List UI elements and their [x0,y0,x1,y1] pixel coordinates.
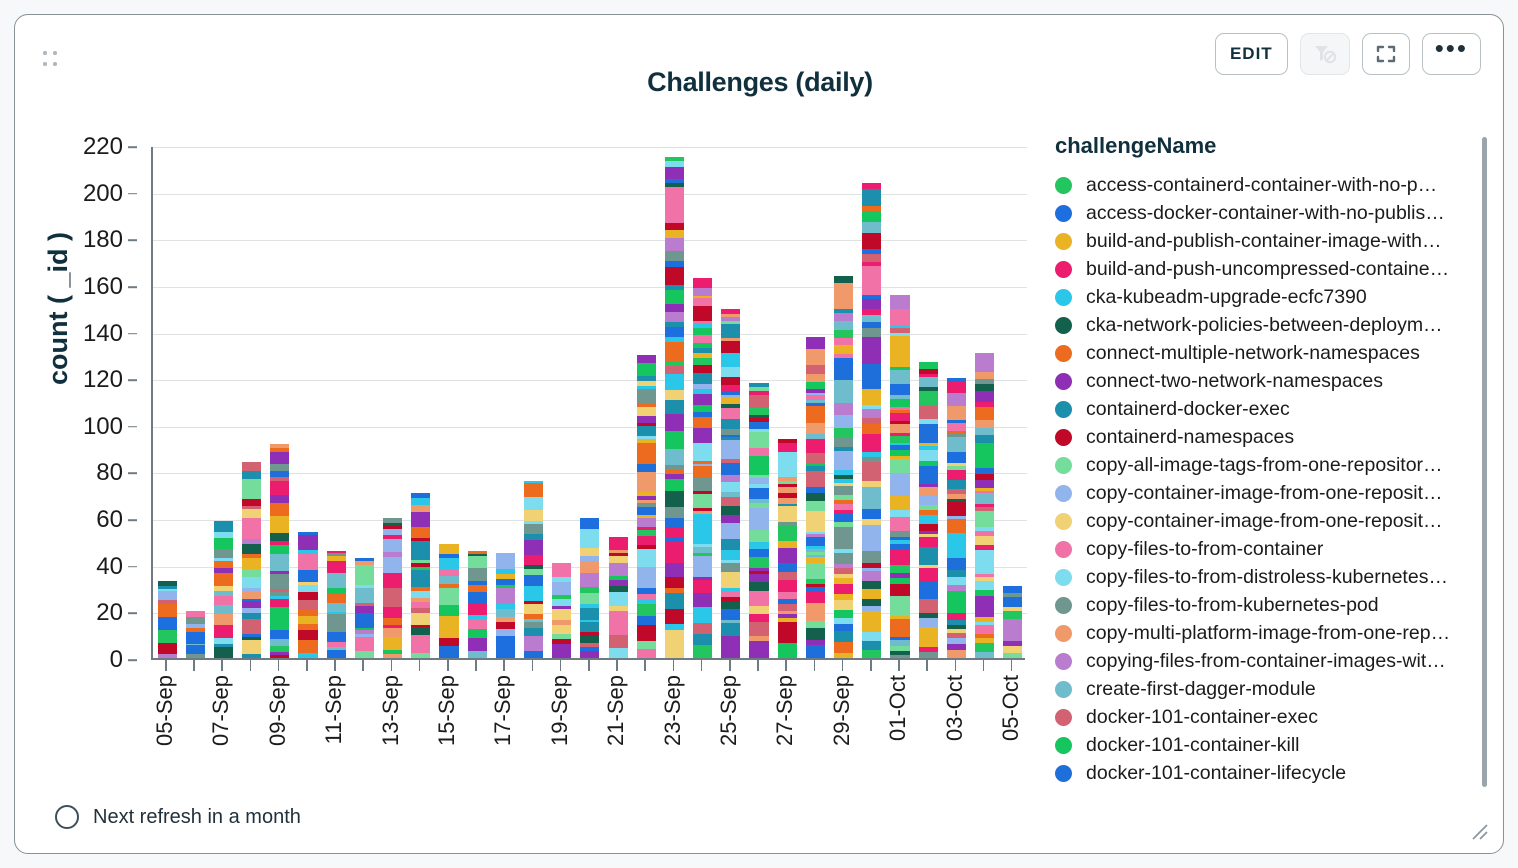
bar-segment[interactable] [496,622,515,629]
bar-segment[interactable] [721,353,740,367]
bar-segment[interactable] [721,463,740,476]
bar-segment[interactable] [496,553,515,568]
bar-segment[interactable] [721,515,740,523]
bar-segment[interactable] [919,362,938,369]
bar-segment[interactable] [975,443,994,468]
bar-segment[interactable] [693,358,712,366]
bar-segment[interactable] [355,606,374,613]
bar-segment[interactable] [524,500,543,510]
bar-segment[interactable] [468,592,487,604]
bar-segment[interactable] [749,622,768,636]
bar-segment[interactable] [609,537,628,550]
bar-segment[interactable] [637,649,656,658]
legend-item[interactable]: copy-all-image-tags-from-one-repositor… [1037,451,1489,479]
bar-segment[interactable] [919,391,938,406]
bar-segment[interactable] [496,647,515,658]
fullscreen-icon[interactable] [1362,33,1410,75]
bar[interactable] [298,532,317,658]
bar-segment[interactable] [270,655,289,658]
bar-segment[interactable] [496,588,515,604]
bar-segment[interactable] [975,596,994,617]
bar-segment[interactable] [834,486,853,494]
bar-segment[interactable] [383,559,402,573]
bar-segment[interactable] [355,651,374,658]
bar-segment[interactable] [637,518,656,527]
bar-segment[interactable] [665,414,684,431]
bar-segment[interactable] [609,641,628,648]
bar-segment[interactable] [834,553,853,564]
bar-segment[interactable] [947,558,966,570]
bar-segment[interactable] [890,309,909,325]
bar-segment[interactable] [975,493,994,503]
bar-segment[interactable] [806,511,825,532]
bar-segment[interactable] [439,544,458,554]
bar-segment[interactable] [158,630,177,643]
bar-segment[interactable] [862,462,881,481]
bar-segment[interactable] [298,570,317,582]
bar-segment[interactable] [524,628,543,636]
bar-segment[interactable] [806,563,825,579]
bar-segment[interactable] [693,428,712,443]
legend-item[interactable]: copy-multi-platform-image-from-one-rep… [1037,619,1489,647]
bar-segment[interactable] [524,483,543,497]
bar-segment[interactable] [890,596,909,616]
bar-segment[interactable] [693,365,712,373]
bar-segment[interactable] [242,619,261,634]
bar-segment[interactable] [214,625,233,638]
bar-segment[interactable] [270,619,289,630]
bar-segment[interactable] [862,424,881,434]
bar-segment[interactable] [242,640,261,655]
bar-segment[interactable] [468,629,487,638]
bar-segment[interactable] [975,384,994,391]
bar-segment[interactable] [778,506,797,522]
bar-segment[interactable] [947,591,966,613]
bar-segment[interactable] [327,650,346,658]
bar-segment[interactable] [609,611,628,631]
bar-segment[interactable] [524,540,543,555]
bar-segment[interactable] [749,432,768,448]
bar-segment[interactable] [693,306,712,321]
legend-item[interactable]: copy-files-to-from-distroless-kubernetes… [1037,563,1489,591]
bar-segment[interactable] [975,474,994,481]
bar-segment[interactable] [862,211,881,221]
bar-segment[interactable] [270,574,289,589]
bar-segment[interactable] [890,550,909,565]
bar-segment[interactable] [693,593,712,607]
bar-segment[interactable] [665,390,684,400]
bar-segment[interactable] [749,641,768,651]
bar-segment[interactable] [806,382,825,390]
bar-segment[interactable] [665,507,684,518]
bar-segment[interactable] [947,480,966,488]
bar-segment[interactable] [806,406,825,423]
bar-segment[interactable] [214,614,233,625]
bar-segment[interactable] [665,541,684,564]
legend-item[interactable]: copying-files-from-container-images-wit… [1037,647,1489,675]
bar-segment[interactable] [749,651,768,658]
bar-segment[interactable] [298,535,317,544]
bar-segment[interactable] [637,407,656,416]
bar-segment[interactable] [721,523,740,539]
bar-segment[interactable] [665,223,684,230]
bar-segment[interactable] [693,556,712,577]
bar-segment[interactable] [778,604,797,611]
bar-segment[interactable] [242,569,261,576]
bar-segment[interactable] [580,622,599,632]
bar-segment[interactable] [862,222,881,233]
bar-segment[interactable] [439,628,458,638]
bar-segment[interactable] [693,645,712,658]
bar-segment[interactable] [524,575,543,586]
bar-segment[interactable] [862,632,881,641]
bar-segment[interactable] [834,653,853,658]
bar-segment[interactable] [890,336,909,353]
bar-segment[interactable] [298,592,317,600]
bar-segment[interactable] [693,478,712,491]
bar[interactable] [609,537,628,658]
bar-segment[interactable] [890,384,909,395]
bar[interactable] [186,611,205,658]
bar-segment[interactable] [749,408,768,415]
bar-segment[interactable] [411,635,430,653]
bar-segment[interactable] [721,623,740,636]
bar-segment[interactable] [919,551,938,566]
bar-segment[interactable] [665,342,684,362]
bar-segment[interactable] [834,276,853,283]
bar-segment[interactable] [186,645,205,654]
bar-segment[interactable] [665,400,684,414]
bar-segment[interactable] [862,266,881,295]
bar-segment[interactable] [721,408,740,419]
bar-segment[interactable] [609,592,628,606]
bar-segment[interactable] [721,613,740,620]
bar[interactable] [496,553,515,658]
bar-segment[interactable] [862,589,881,600]
bar-segment[interactable] [411,498,430,505]
bar-segment[interactable] [693,394,712,405]
bar-segment[interactable] [919,487,938,496]
bar-segment[interactable] [890,655,909,658]
bar-segment[interactable] [975,581,994,591]
bar-segment[interactable] [158,604,177,616]
bar-segment[interactable] [665,312,684,321]
bar-segment[interactable] [439,569,458,576]
bar-segment[interactable] [637,426,656,436]
bar-segment[interactable] [580,651,599,658]
legend-item[interactable]: containerd-docker-exec [1037,395,1489,423]
bar-segment[interactable] [468,585,487,592]
bar-segment[interactable] [778,622,797,643]
bar-segment[interactable] [890,517,909,531]
bar-segment[interactable] [242,509,261,519]
bar-segment[interactable] [693,580,712,594]
more-options-button[interactable]: ••• [1422,33,1481,75]
bar-segment[interactable] [862,315,881,322]
bar-segment[interactable] [806,349,825,365]
bar-segment[interactable] [524,636,543,651]
bar-segment[interactable] [637,567,656,574]
bar-segment[interactable] [496,609,515,617]
bar-segment[interactable] [806,493,825,501]
bar-segment[interactable] [468,651,487,658]
bar-segment[interactable] [242,471,261,479]
bar-segment[interactable] [158,643,177,654]
bar-segment[interactable] [665,563,684,576]
bar-segment[interactable] [270,639,289,646]
bar-segment[interactable] [947,544,966,557]
bar-segment[interactable] [947,650,966,658]
bar-segment[interactable] [749,549,768,558]
bar-segment[interactable] [919,588,938,600]
legend-item[interactable]: cka-network-policies-between-deploym… [1037,311,1489,339]
bar-segment[interactable] [721,497,740,506]
bar-segment[interactable] [637,416,656,423]
bar[interactable] [552,562,571,658]
bar-segment[interactable] [186,632,205,644]
bar-segment[interactable] [721,506,740,515]
bar-segment[interactable] [693,288,712,296]
bar-segment[interactable] [890,399,909,407]
bar-segment[interactable] [862,378,881,389]
bar-segment[interactable] [327,573,346,588]
bar[interactable] [439,544,458,658]
bar-segment[interactable] [806,645,825,658]
bar-segment[interactable] [919,524,938,532]
bar-segment[interactable] [580,518,599,529]
bar-segment[interactable] [1003,619,1022,641]
bar-segment[interactable] [637,604,656,616]
bar-segment[interactable] [778,643,797,654]
bar-segment[interactable] [468,642,487,651]
bar-segment[interactable] [834,358,853,365]
bar-segment[interactable] [665,630,684,658]
bar-segment[interactable] [665,609,684,624]
bar-segment[interactable] [637,625,656,641]
bar-segment[interactable] [1003,586,1022,593]
bar-segment[interactable] [158,617,177,630]
bar-segment[interactable] [721,602,740,609]
bar-segment[interactable] [439,616,458,627]
bar-segment[interactable] [834,600,853,610]
bar-segment[interactable] [693,623,712,633]
bar-segment[interactable] [580,561,599,573]
bar-segment[interactable] [975,435,994,443]
bar-segment[interactable] [890,619,909,637]
bar-segment[interactable] [975,643,994,652]
bar-segment[interactable] [637,464,656,472]
bar[interactable] [806,336,825,658]
bar-segment[interactable] [862,525,881,552]
bar-segment[interactable] [749,488,768,499]
bar-segment[interactable] [355,613,374,628]
resize-handle[interactable] [1467,819,1489,841]
bar-segment[interactable] [947,533,966,544]
bar-segment[interactable] [383,573,402,588]
bar-segment[interactable] [693,531,712,544]
bar-segment[interactable] [496,636,515,647]
bar-segment[interactable] [665,304,684,312]
bar-segment[interactable] [524,604,543,614]
bar-segment[interactable] [665,479,684,491]
bar-segment[interactable] [693,547,712,554]
bar-segment[interactable] [919,450,938,461]
bar-segment[interactable] [721,550,740,560]
bar-segment[interactable] [806,471,825,487]
bar-segment[interactable] [270,533,289,541]
bar-segment[interactable] [947,577,966,585]
bar[interactable] [778,439,797,658]
bar-segment[interactable] [270,464,289,471]
bar-segment[interactable] [890,413,909,421]
bar-segment[interactable] [693,278,712,288]
bar-segment[interactable] [806,439,825,453]
edit-button[interactable]: EDIT [1215,33,1288,75]
legend-item[interactable]: connect-multiple-network-namespaces [1037,339,1489,367]
bar[interactable] [749,383,768,658]
bar-segment[interactable] [411,591,430,598]
bar-segment[interactable] [890,565,909,573]
bar-segment[interactable] [721,482,740,493]
bar[interactable] [355,558,374,658]
bar-segment[interactable] [834,610,853,618]
bar-segment[interactable] [468,619,487,629]
bar-segment[interactable] [749,591,768,606]
bar-segment[interactable] [749,530,768,542]
legend-item[interactable]: copy-container-image-from-one-reposit… [1037,479,1489,507]
bar-segment[interactable] [862,641,881,650]
bar-segment[interactable] [355,588,374,603]
bar-segment[interactable] [214,573,233,586]
bar[interactable] [637,355,656,658]
legend-item[interactable]: copy-files-to-from-kubernetes-pod [1037,591,1489,619]
bar-segment[interactable] [383,607,402,617]
bar-segment[interactable] [242,577,261,589]
bar-segment[interactable] [806,592,825,603]
bar-segment[interactable] [355,637,374,650]
bar-segment[interactable] [862,233,881,249]
bar-segment[interactable] [862,434,881,452]
bar-segment[interactable] [721,539,740,551]
bar-segment[interactable] [834,321,853,330]
bar-segment[interactable] [439,588,458,605]
bar[interactable] [862,182,881,658]
bar-segment[interactable] [862,650,881,658]
bar-segment[interactable] [975,511,994,527]
bar-segment[interactable] [411,627,430,634]
bar-segment[interactable] [580,593,599,605]
bar-segment[interactable] [665,491,684,506]
bar-segment[interactable] [270,452,289,464]
bar-segment[interactable] [778,443,797,452]
bar-segment[interactable] [270,503,289,516]
bar-segment[interactable] [834,584,853,594]
bar-segment[interactable] [186,617,205,625]
bar-segment[interactable] [693,373,712,384]
bar-segment[interactable] [552,563,571,577]
bar-segment[interactable] [383,654,402,658]
bar-segment[interactable] [693,634,712,645]
legend-item[interactable]: access-docker-container-with-no-publis… [1037,199,1489,227]
bar-segment[interactable] [947,382,966,393]
bar-segment[interactable] [834,283,853,309]
bar-segment[interactable] [947,423,966,431]
bar-segment[interactable] [327,561,346,573]
bar-segment[interactable] [411,505,430,512]
bar[interactable] [383,518,402,658]
bar-segment[interactable] [468,604,487,615]
bar-segment[interactable] [834,642,853,652]
bar-segment[interactable] [975,625,994,634]
bar[interactable] [327,551,346,658]
bar-segment[interactable] [270,607,289,619]
bar-segment[interactable] [947,470,966,480]
bar-segment[interactable] [834,527,853,549]
bar-segment[interactable] [749,614,768,622]
bar-segment[interactable] [609,563,628,576]
bar-segment[interactable] [270,630,289,638]
bar-segment[interactable] [806,628,825,641]
bar-segment[interactable] [975,372,994,379]
bar-segment[interactable] [637,363,656,376]
bar[interactable] [975,353,994,658]
bar-segment[interactable] [298,600,317,610]
bar-segment[interactable] [862,189,881,206]
bar-segment[interactable] [862,299,881,308]
bar-segment[interactable] [1003,597,1022,607]
bar-segment[interactable] [890,496,909,509]
legend-item[interactable]: create-first-dagger-module [1037,675,1489,703]
bar[interactable] [214,520,233,658]
bar-segment[interactable] [214,532,233,539]
bar-segment[interactable] [270,554,289,572]
bar-segment[interactable] [862,389,881,405]
bar-segment[interactable] [693,417,712,428]
bar-segment[interactable] [749,557,768,567]
bar[interactable] [1003,586,1022,658]
bar-segment[interactable] [890,295,909,309]
bar-segment[interactable] [947,452,966,463]
bar-segment[interactable] [834,380,853,403]
bar-segment[interactable] [242,462,261,470]
bar-segment[interactable] [270,545,289,553]
bar-segment[interactable] [665,327,684,338]
bar-segment[interactable] [862,599,881,606]
bar-segment[interactable] [919,496,938,504]
bar-segment[interactable] [778,525,797,541]
bar-segment[interactable] [214,647,233,658]
bar-segment[interactable] [862,337,881,364]
bar-segment[interactable] [242,654,261,658]
bar-segment[interactable] [665,374,684,390]
bar-segment[interactable] [778,654,797,658]
bar-segment[interactable] [411,541,430,560]
bar-segment[interactable] [665,167,684,179]
bar-segment[interactable] [806,501,825,511]
bar-segment[interactable] [411,613,430,625]
bar-segment[interactable] [158,654,177,658]
bar-segment[interactable] [806,609,825,620]
bar[interactable] [242,462,261,658]
bar-segment[interactable] [609,556,628,564]
bar-segment[interactable] [834,428,853,437]
bar-segment[interactable] [834,568,853,575]
bar-segment[interactable] [721,341,740,353]
bar-segment[interactable] [298,616,317,625]
bar-segment[interactable] [665,267,684,286]
bar-segment[interactable] [693,298,712,306]
bar[interactable] [721,308,740,658]
